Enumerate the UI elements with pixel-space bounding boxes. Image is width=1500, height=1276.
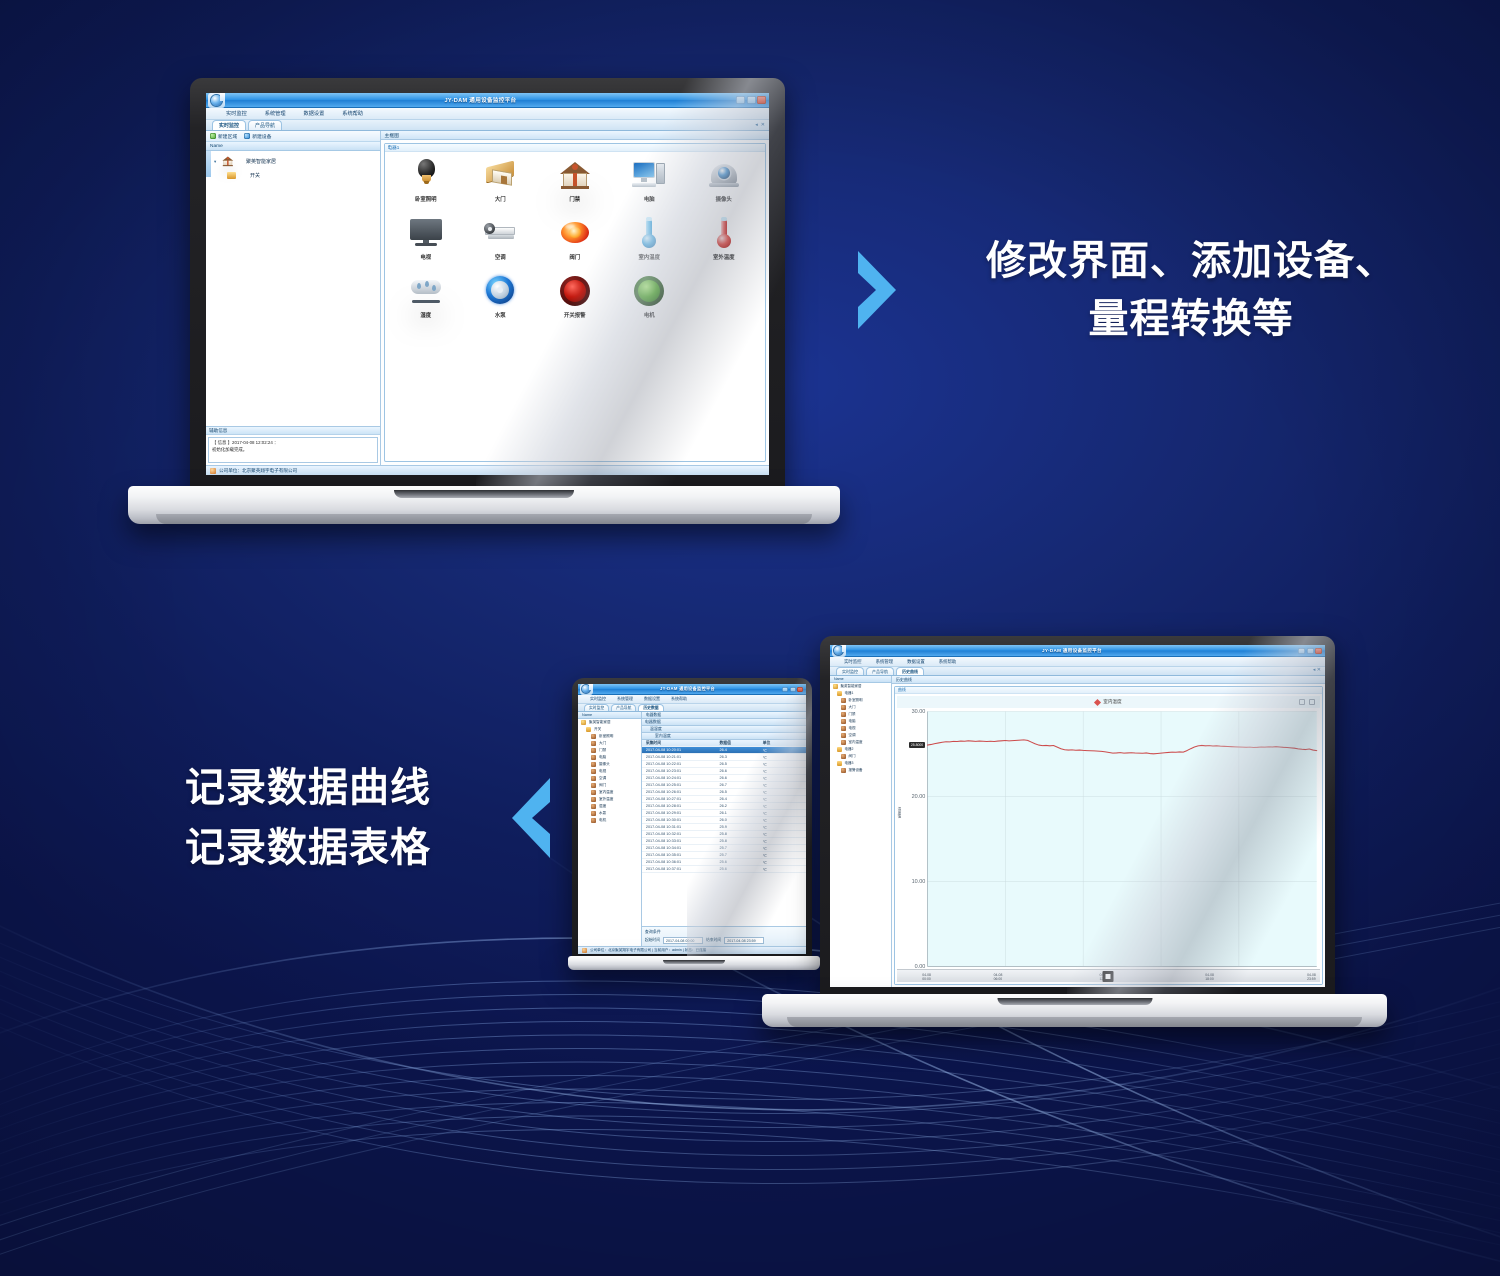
tab-realtime[interactable]: 实时监控 [212, 120, 246, 130]
table-cell: 2017-04-08 10:23:01 [646, 769, 720, 773]
tree-node-label: 聚英智能家居 [589, 720, 611, 725]
x-tick-label: 04-0818:00 [1205, 973, 1214, 981]
laptop-screen-right: JY-DAM 通用设备监控平台 实时监控 系统管理 数据设置 系统帮助 实时监控 [830, 645, 1325, 987]
tree-node[interactable]: 室内温度 [830, 739, 891, 746]
svg-text:10.00: 10.00 [911, 879, 925, 885]
close-button[interactable] [757, 96, 766, 104]
tab-product-nav[interactable]: 产品导航 [866, 667, 894, 675]
left-panel: Name 聚英智能家居电器1卧室照明大门门禁电脑电视空调室内温度电器2阀门电器3… [830, 676, 892, 987]
folder-icon [837, 691, 842, 696]
tree-node-label: 电视 [599, 769, 606, 774]
table-cell: 26.4 [720, 748, 763, 752]
device-icon [591, 797, 596, 802]
maximize-button[interactable] [747, 96, 756, 104]
device-label: 湿度 [420, 311, 431, 319]
app-body: Name 聚英智能家居电器1卧室照明大门门禁电脑电视空调室内温度电器2阀门电器3… [830, 676, 1325, 987]
humidity-icon [407, 274, 445, 308]
table-cell: 2017-04-08 10:35:01 [646, 853, 720, 857]
close-button[interactable] [1315, 648, 1322, 654]
menu-item-realtime[interactable]: 实时监控 [844, 659, 862, 665]
window-controls[interactable] [1298, 648, 1322, 654]
menu-item-help[interactable]: 系统帮助 [939, 659, 957, 665]
tree-node[interactable]: 室内温度 [578, 789, 641, 796]
home-icon [221, 155, 235, 168]
tree-node[interactable]: 电器1 [830, 690, 891, 697]
tab-realtime[interactable]: 实时监控 [836, 667, 864, 675]
tree-node[interactable]: 电机 [578, 817, 641, 824]
table-cell: 25.7 [720, 853, 763, 857]
tree-node-label: 电器3 [845, 761, 854, 766]
new-device-label: 新建设备 [252, 133, 271, 140]
app-body: 新建区域 新建设备 Name ▾ [206, 131, 769, 465]
menu-item-system[interactable]: 系统管理 [265, 110, 286, 117]
company-icon [582, 948, 587, 953]
tree-node[interactable]: 大门 [830, 704, 891, 711]
tree-node[interactable]: 电视 [578, 768, 641, 775]
menu-item-help[interactable]: 系统帮助 [671, 696, 687, 702]
device-tile-bulb[interactable]: 卧室照明 [389, 158, 463, 216]
device-icon [591, 762, 596, 767]
zoom-out-icon[interactable] [1309, 699, 1315, 705]
log-body: 【 信息 】2017-04-08 12:02:24 ： 初始化加载完成。 [208, 437, 378, 463]
device-tile-pump[interactable]: 水泵 [463, 274, 538, 332]
tree-node-label: 门禁 [599, 748, 606, 753]
chart-container: 室内温度 温度值 25.8000 0.0010.0020.003 [895, 694, 1322, 984]
left-panel: 新建区域 新建设备 Name ▾ [206, 131, 381, 465]
app-logo-icon [832, 645, 846, 657]
laptop-base-top [128, 486, 840, 524]
table-cell: 2017-04-08 10:31:01 [646, 825, 720, 829]
device-icon [841, 733, 846, 738]
groupbox-title: 电器1 [385, 144, 765, 152]
chevron-right-icon [850, 245, 910, 335]
groupbox-title: 曲线 [895, 687, 1322, 694]
pump-icon [481, 274, 519, 308]
menu-item-data[interactable]: 数据设置 [644, 696, 660, 702]
svg-text:20.00: 20.00 [911, 794, 925, 800]
left-panel: Name 聚英智能家居开关卧室照明大门门禁电脑摄像头电视空调阀门室内温度室外温度… [578, 712, 642, 946]
table-cell: 26.1 [720, 811, 763, 815]
bulb-icon [407, 158, 445, 192]
table-cell: 2017-04-08 10:37:01 [646, 867, 720, 871]
tabstrip-buttons[interactable]: ◂ ✕ [1313, 667, 1321, 673]
tree-node-label: 摄像头 [599, 762, 610, 767]
app-window-history-curve: JY-DAM 通用设备监控平台 实时监控 系统管理 数据设置 系统帮助 实时监控 [830, 645, 1325, 987]
chart-tools[interactable] [1299, 699, 1315, 705]
tree-node[interactable]: 大门 [578, 740, 641, 747]
tree-node-label: 湿度 [599, 804, 606, 809]
table-cell: 26.6 [720, 776, 763, 780]
table-cell: 2017-04-08 10:32:01 [646, 832, 720, 836]
tree-column-header: Name [578, 712, 641, 719]
tab-close-icon[interactable]: ◂ ✕ [1313, 667, 1321, 673]
tab-close-icon[interactable]: ✕ [761, 122, 765, 128]
start-time-input[interactable] [663, 937, 703, 944]
tv-icon [407, 216, 445, 250]
app-logo-icon [580, 684, 593, 695]
table-cell: 2017-04-08 10:36:01 [646, 860, 720, 864]
right-panel: 主框图 电器1 卧室照明 [381, 131, 769, 465]
device-icon [591, 811, 596, 816]
new-area-button[interactable]: 新建区域 [210, 133, 237, 140]
log-line: 初始化加载完成。 [212, 447, 374, 454]
x-tick-label: 04-0800:00 [922, 973, 931, 981]
new-device-button[interactable]: 新建设备 [244, 133, 271, 140]
tree-node-label: 门禁 [849, 712, 856, 717]
tree-node[interactable]: 空调 [830, 732, 891, 739]
device-tile-alarm[interactable]: 开关报警 [538, 274, 613, 332]
tree-node-label: 电脑 [849, 719, 856, 724]
tree-node-label: 卧室照明 [849, 698, 863, 703]
table-cell: 26.2 [720, 804, 763, 808]
tab-product-nav[interactable]: 产品导航 [248, 120, 282, 130]
device-grid: 卧室照明 大门 [385, 152, 765, 461]
log-line: 【 信息 】2017-04-08 12:02:24 ： [212, 440, 374, 447]
column-header-value: 数据值 [720, 741, 763, 746]
home-icon [833, 684, 838, 689]
tree-node[interactable]: 聚英智能家居 [830, 683, 891, 690]
status-text: 公司单位：北京聚英翔宇电子有限公司 | 当前用户：admin | 状态：已连接 [590, 948, 706, 953]
table-cell: 2017-04-08 10:33:01 [646, 839, 720, 843]
device-groupbox: 电器1 卧室照明 大门 [384, 143, 766, 462]
tree-node-label: 室内温度 [849, 740, 863, 745]
zoom-in-icon[interactable] [1299, 699, 1305, 705]
tree-node-label: 水泵 [599, 811, 606, 816]
table-cell: 2017-04-08 10:26:01 [646, 790, 720, 794]
tree-node-label: 电机 [599, 818, 606, 823]
device-tile-valve[interactable]: 阀门 [538, 216, 613, 274]
device-label: 阀门 [569, 253, 580, 261]
gate-icon [481, 158, 519, 192]
device-tree[interactable]: 聚英智能家居开关卧室照明大门门禁电脑摄像头电视空调阀门室内温度室外温度湿度水泵电… [578, 719, 641, 946]
tree-node[interactable]: 湿度 [578, 803, 641, 810]
table-cell: 2017-04-08 10:21:01 [646, 755, 720, 759]
device-label: 水泵 [495, 311, 506, 319]
window-title: JY-DAM 通用设备监控平台 [593, 686, 782, 692]
tree-node-label: 空调 [849, 733, 856, 738]
device-icon [591, 776, 596, 781]
device-icon [591, 734, 596, 739]
tree-node[interactable]: 门禁 [830, 711, 891, 718]
table-cell: 25.8 [720, 839, 763, 843]
titlebar: JY-DAM 通用设备监控平台 [830, 645, 1325, 657]
tree-node-label: 报警设备 [849, 768, 863, 773]
tree-node[interactable]: 室外温度 [578, 796, 641, 803]
tree-node[interactable]: 开关 [578, 726, 641, 733]
tree-node-label: 室内温度 [599, 790, 613, 795]
tree-node-label: 卧室照明 [599, 734, 613, 739]
menu-item-data[interactable]: 数据设置 [304, 110, 325, 117]
device-tile-humidity[interactable]: 湿度 [389, 274, 463, 332]
window-controls[interactable] [736, 96, 766, 104]
chart-groupbox: 曲线 室内温度 [894, 686, 1323, 985]
table-cell: 26.5 [720, 762, 763, 766]
chart-x-axis[interactable]: 04-0800:0004-0806:0004-0812:0004-0818:00… [897, 969, 1320, 982]
folder-icon [837, 747, 842, 752]
table-cell: 26.3 [720, 755, 763, 759]
tree-node-label: 电视 [849, 726, 856, 731]
tree-node-home[interactable]: ▾ 聚英智能家居 [206, 154, 380, 169]
legend-label: 室内温度 [1103, 699, 1121, 705]
tree-node[interactable]: 电脑 [578, 754, 641, 761]
table-cell: 2017-04-08 10:34:01 [646, 846, 720, 850]
table-cell: 26.6 [720, 769, 763, 773]
table-cell: 25.8 [720, 832, 763, 836]
device-tile-camera[interactable]: 摄像头 [687, 158, 761, 216]
end-time-label: 结束时间 [706, 938, 721, 943]
tree-node-label: 聚英智能家居 [841, 684, 862, 689]
y-value-badge: 25.8000 [909, 742, 925, 748]
device-tile-outdoor-temp[interactable]: 室外温度 [687, 216, 761, 274]
table-cell: 26.7 [720, 783, 763, 787]
tree-node-label: 电脑 [599, 755, 606, 760]
device-label: 电机 [644, 311, 655, 319]
device-icon [591, 804, 596, 809]
laptop-trackpad-notch [997, 998, 1152, 1005]
folder-icon [586, 727, 591, 732]
device-icon [841, 719, 846, 724]
laptop-screen-top: JY-DAM 通用设备监控平台 实时监控 系统管理 数据设置 系统帮助 实时监控 [206, 93, 769, 475]
tree-node[interactable]: 聚英智能家居 [578, 719, 641, 726]
tree-column-header: Name [830, 676, 891, 683]
device-label: 摄像头 [716, 195, 732, 203]
chevron-left-icon [500, 770, 560, 866]
device-tile-ac[interactable]: 空调 [463, 216, 538, 274]
table-cell: 25.7 [720, 846, 763, 850]
device-icon [841, 768, 846, 773]
tabstrip: 实时监控 产品导航 历史曲线 ◂ ✕ [830, 667, 1325, 676]
computer-icon [630, 158, 668, 192]
column-header-time: 采集时间 [646, 741, 720, 746]
tree-node[interactable]: 门禁 [578, 747, 641, 754]
titlebar: JY-DAM 通用设备监控平台 [206, 93, 769, 108]
device-label: 室内温度 [638, 253, 660, 261]
tree-node-switch[interactable]: 开关 [206, 169, 380, 182]
laptop-trackpad-notch [663, 960, 725, 964]
device-label: 卧室照明 [415, 195, 437, 203]
laptop-device-top: JY-DAM 通用设备监控平台 实时监控 系统管理 数据设置 系统帮助 实时监控 [128, 78, 840, 533]
tree-node[interactable]: 卧室照明 [578, 733, 641, 740]
device-tree[interactable]: 聚英智能家居电器1卧室照明大门门禁电脑电视空调室内温度电器2阀门电器3报警设备 [830, 683, 891, 987]
callout-bottom-line2: 记录数据表格 [140, 818, 476, 878]
table-cell: 26.0 [720, 818, 763, 822]
device-tree[interactable]: ▾ 聚英智能家居 [206, 151, 380, 426]
laptop-foot [787, 1017, 1362, 1027]
tree-node[interactable]: 水泵 [578, 810, 641, 817]
company-icon [210, 468, 216, 474]
table-cell: 2017-04-08 10:29:01 [646, 811, 720, 815]
device-tile-motor[interactable]: 电机 [612, 274, 687, 332]
statusbar: 公司单位：北京聚英翔宇电子有限公司 [206, 465, 769, 475]
add-area-icon [210, 133, 216, 139]
tree-node-label: 阀门 [599, 783, 606, 788]
tree-node-label: 室外温度 [599, 797, 613, 802]
table-cell: 2017-04-08 10:20:01 [646, 748, 720, 752]
add-device-icon [244, 133, 250, 139]
device-icon [591, 783, 596, 788]
device-label: 电视 [420, 253, 431, 261]
minimize-button[interactable] [736, 96, 745, 104]
tree-node-label: 大门 [849, 705, 856, 710]
table-cell: 2017-04-08 10:22:01 [646, 762, 720, 766]
log-header: 辅助信息 [206, 427, 380, 435]
minimize-button[interactable] [1298, 648, 1305, 654]
tree-node[interactable]: 卧室照明 [830, 697, 891, 704]
tree-node[interactable]: 报警设备 [830, 767, 891, 774]
start-time-label: 起始时间 [645, 938, 660, 943]
menubar: 实时监控 系统管理 数据设置 系统帮助 [206, 108, 769, 120]
table-cell: 26.5 [720, 790, 763, 794]
table-cell: 25.6 [720, 867, 763, 871]
motor-button-green-icon [630, 274, 668, 308]
device-icon [591, 818, 596, 823]
tree-node[interactable]: 电器3 [830, 760, 891, 767]
menubar: 实时监控 系统管理 数据设置 系统帮助 [830, 657, 1325, 667]
device-icon [591, 741, 596, 746]
folder-icon [837, 761, 842, 766]
y-axis-label: 温度值 [898, 807, 903, 818]
device-icon [841, 698, 846, 703]
chart-plot-area: 温度值 25.8000 0.0010.0020.0030.00 [897, 708, 1320, 969]
chart-svg: 0.0010.0020.0030.00 [897, 708, 1320, 969]
menu-item-data[interactable]: 数据设置 [907, 659, 925, 665]
status-text: 公司单位：北京聚英翔宇电子有限公司 [219, 468, 297, 474]
left-toolbar: 新建区域 新建设备 [206, 131, 380, 142]
device-label: 电脑 [644, 195, 655, 203]
device-icon [226, 170, 238, 181]
alarm-button-red-icon [556, 274, 594, 308]
valve-icon [556, 216, 594, 250]
menu-item-system[interactable]: 系统管理 [876, 659, 894, 665]
device-icon [591, 769, 596, 774]
device-icon [841, 754, 846, 759]
log-panel: 辅助信息 【 信息 】2017-04-08 12:02:24 ： 初始化加载完成… [206, 426, 380, 465]
device-icon [841, 740, 846, 745]
right-panel: 历史曲线 曲线 室内温度 [892, 676, 1325, 987]
thermometer-blue-icon [630, 216, 668, 250]
new-area-label: 新建区域 [218, 133, 237, 140]
tree-node[interactable]: 空调 [578, 775, 641, 782]
device-icon [841, 712, 846, 717]
window-title: JY-DAM 通用设备监控平台 [846, 648, 1298, 654]
menu-item-system[interactable]: 系统管理 [617, 696, 633, 702]
laptop-foot [156, 514, 811, 524]
table-cell: 26.4 [720, 797, 763, 801]
device-tile-tv[interactable]: 电视 [389, 216, 463, 274]
device-label: 开关报警 [564, 311, 586, 319]
device-tile-computer[interactable]: 电脑 [612, 158, 687, 216]
table-cell: 2017-04-08 10:28:01 [646, 804, 720, 808]
air-conditioner-icon [481, 216, 519, 250]
device-icon [591, 790, 596, 795]
tab-scroll-icon[interactable]: ◂ [755, 122, 758, 128]
x-tick-label: 04-0806:00 [994, 973, 1003, 981]
table-cell: 25.6 [720, 860, 763, 864]
tab-history-curve[interactable]: 历史曲线 [896, 667, 924, 675]
tabstrip-buttons[interactable]: ◂ ✕ [755, 122, 765, 128]
laptop-base-right [762, 994, 1387, 1027]
device-label: 门禁 [569, 195, 580, 203]
menu-item-realtime[interactable]: 实时监控 [226, 110, 247, 117]
home-icon [581, 720, 586, 725]
tree-node-label: 电器1 [845, 691, 854, 696]
menu-item-help[interactable]: 系统帮助 [342, 110, 363, 117]
menu-item-realtime[interactable]: 实时监控 [590, 696, 606, 702]
tree-selection-bar [206, 151, 211, 177]
laptop-trackpad-notch [394, 490, 574, 498]
device-tile-access[interactable]: 门禁 [538, 158, 613, 216]
chart-legend: 室内温度 [897, 696, 1320, 708]
device-tile-gate[interactable]: 大门 [463, 158, 538, 216]
device-tile-indoor-temp[interactable]: 室内温度 [612, 216, 687, 274]
tabstrip: 实时监控 产品导航 ◂ ✕ [206, 120, 769, 131]
panel-header: 主框图 [381, 131, 769, 140]
laptop-lid-right: JY-DAM 通用设备监控平台 实时监控 系统管理 数据设置 系统帮助 实时监控 [820, 636, 1335, 1001]
app-window-monitor: JY-DAM 通用设备监控平台 实时监控 系统管理 数据设置 系统帮助 实时监控 [206, 93, 769, 475]
end-time-input[interactable] [724, 937, 764, 944]
callout-bottom-line1: 记录数据曲线 [140, 758, 476, 818]
table-cell: 2017-04-08 10:25:01 [646, 783, 720, 787]
access-control-icon [556, 158, 594, 192]
tree-node-label: 聚英智能家居 [246, 158, 276, 165]
app-logo-icon [208, 93, 225, 108]
tree-node-label: 开关 [594, 727, 601, 732]
table-cell: 25.9 [720, 825, 763, 829]
callout-bottom: 记录数据曲线 记录数据表格 [140, 758, 560, 878]
device-label: 室外温度 [713, 253, 735, 261]
tree-node[interactable]: 电视 [830, 725, 891, 732]
table-cell: 2017-04-08 10:24:01 [646, 776, 720, 780]
device-icon [841, 705, 846, 710]
callout-top: 修改界面、添加设备、 量程转换等 [850, 232, 1450, 348]
panel-header: 历史曲线 [892, 676, 1325, 684]
tree-node[interactable]: 摄像头 [578, 761, 641, 768]
window-title: JY-DAM 通用设备监控平台 [225, 96, 736, 104]
table-cell: 2017-04-08 10:30:01 [646, 818, 720, 822]
device-label: 大门 [495, 195, 506, 203]
maximize-button[interactable] [1307, 648, 1314, 654]
tree-node-label: 阀门 [849, 754, 856, 759]
scrubber-handle-icon[interactable] [1103, 971, 1114, 982]
legend-marker-icon [1094, 698, 1101, 705]
tree-node[interactable]: 电脑 [830, 718, 891, 725]
laptop-device-right: JY-DAM 通用设备监控平台 实时监控 系统管理 数据设置 系统帮助 实时监控 [762, 636, 1387, 1036]
table-cell: 2017-04-08 10:27:01 [646, 797, 720, 801]
tab-product-nav[interactable]: 产品导航 [611, 704, 636, 711]
tree-node-label: 空调 [599, 776, 606, 781]
tree-node-label: 大门 [599, 741, 606, 746]
tree-column-header: Name [206, 142, 380, 151]
tree-node-label: 电器2 [845, 747, 854, 752]
laptop-lid-top: JY-DAM 通用设备监控平台 实时监控 系统管理 数据设置 系统帮助 实时监控 [190, 78, 785, 493]
camera-icon [705, 158, 743, 192]
tree-node-label: 开关 [250, 172, 260, 179]
tab-realtime[interactable]: 实时监控 [584, 704, 609, 711]
tree-node[interactable]: 阀门 [578, 782, 641, 789]
device-icon [591, 748, 596, 753]
thermometer-red-icon [705, 216, 743, 250]
tab-history-data[interactable]: 历史数据 [638, 704, 663, 711]
tree-node[interactable]: 电器2 [830, 746, 891, 753]
device-label: 空调 [495, 253, 506, 261]
x-tick-label: 04-0823:59 [1307, 973, 1316, 981]
callout-top-line1: 修改界面、添加设备、 [932, 232, 1450, 290]
device-icon [591, 755, 596, 760]
expander-icon[interactable]: ▾ [214, 159, 218, 165]
tree-node[interactable]: 阀门 [830, 753, 891, 760]
device-icon [841, 726, 846, 731]
callout-top-line2: 量程转换等 [932, 290, 1450, 348]
